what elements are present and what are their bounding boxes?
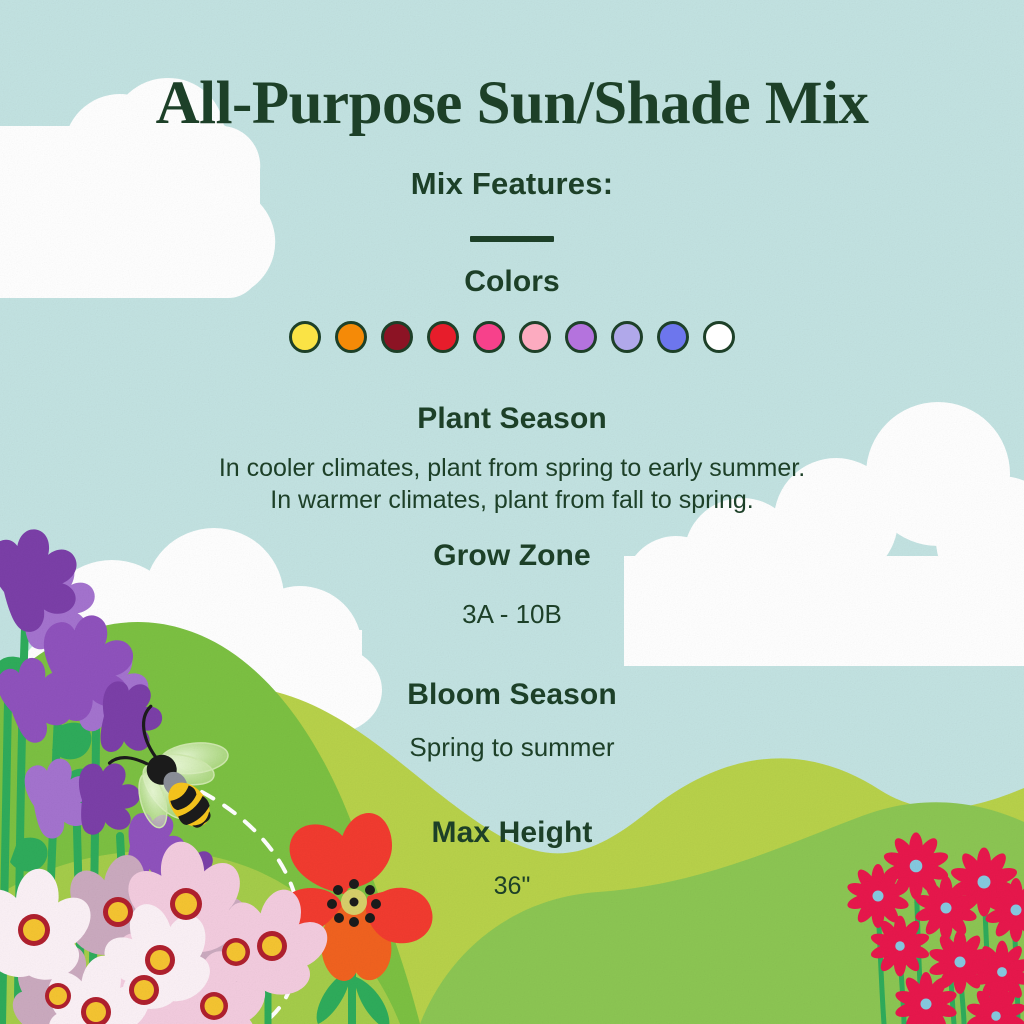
infographic-card: All-Purpose Sun/Shade Mix Mix Features: … — [0, 0, 1024, 1024]
color-swatch-white[interactable] — [703, 321, 735, 353]
section-label-grow-zone: Grow Zone — [0, 539, 1024, 573]
color-swatch-red[interactable] — [427, 321, 459, 353]
plant-season-line-1: In cooler climates, plant from spring to… — [0, 452, 1024, 484]
color-swatch-light-pink[interactable] — [519, 321, 551, 353]
section-label-colors: Colors — [0, 265, 1024, 299]
color-swatch-dark-red[interactable] — [381, 321, 413, 353]
section-value-bloom-season: Spring to summer — [0, 731, 1024, 764]
color-swatch-row — [0, 321, 1024, 353]
section-label-max-height: Max Height — [0, 816, 1024, 850]
section-label-bloom-season: Bloom Season — [0, 678, 1024, 712]
color-swatch-purple[interactable] — [565, 321, 597, 353]
section-value-max-height: 36" — [0, 870, 1024, 902]
section-value-plant-season: In cooler climates, plant from spring to… — [0, 452, 1024, 516]
color-swatch-blue-violet[interactable] — [657, 321, 689, 353]
color-swatch-hot-pink[interactable] — [473, 321, 505, 353]
divider-rule — [470, 236, 554, 242]
mix-features-subheading: Mix Features: — [0, 166, 1024, 202]
color-swatch-yellow[interactable] — [289, 321, 321, 353]
color-swatch-light-purple[interactable] — [611, 321, 643, 353]
plant-season-line-2: In warmer climates, plant from fall to s… — [0, 484, 1024, 516]
color-swatch-orange[interactable] — [335, 321, 367, 353]
section-label-plant-season: Plant Season — [0, 402, 1024, 436]
section-value-grow-zone: 3A - 10B — [0, 598, 1024, 631]
page-title: All-Purpose Sun/Shade Mix — [0, 72, 1024, 136]
